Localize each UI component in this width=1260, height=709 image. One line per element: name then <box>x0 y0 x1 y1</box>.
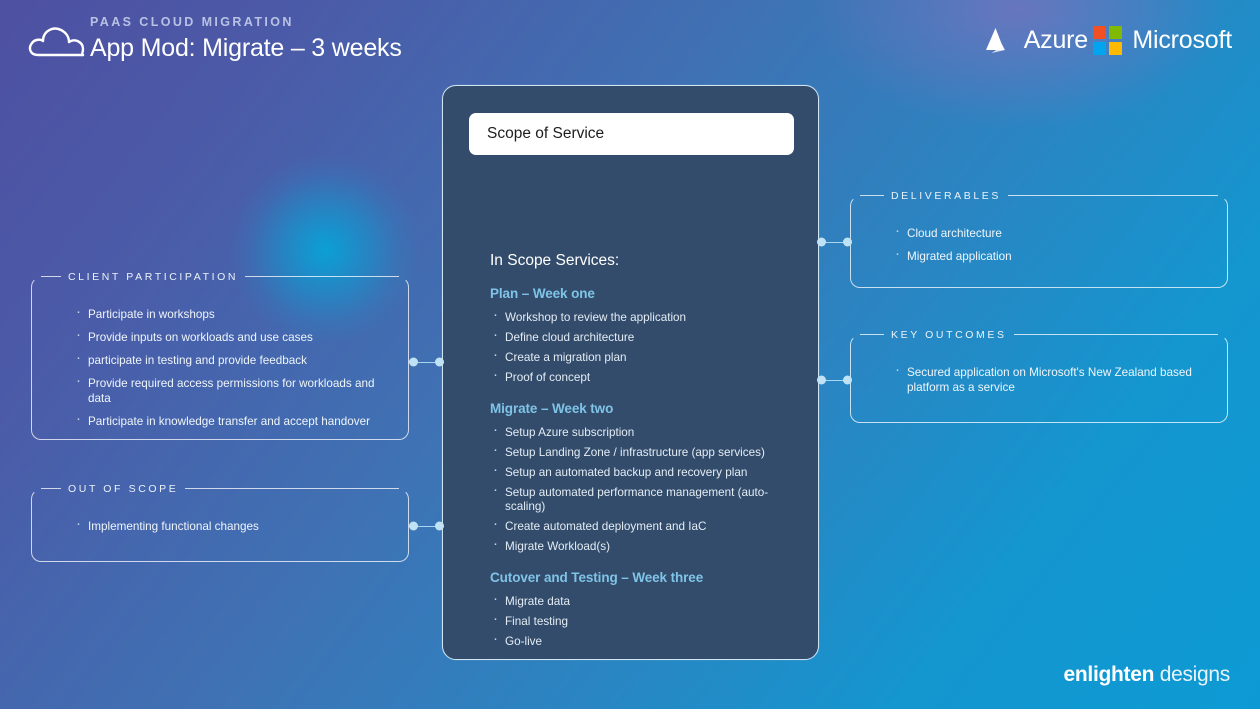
week-block-migrate: Migrate – Week two Setup Azure subscript… <box>490 401 800 554</box>
key-outcomes-panel: KEY OUTCOMES Secured application on Micr… <box>850 335 1228 423</box>
week-title: Cutover and Testing – Week three <box>490 570 800 585</box>
weeks-list: Plan – Week one Workshop to review the a… <box>490 286 800 665</box>
panel-body: Participate in workshops Provide inputs … <box>31 277 409 455</box>
connector-key-outcomes <box>817 375 852 384</box>
list-item: Migrated application <box>892 249 1202 264</box>
scope-chip-label: Scope of Service <box>487 125 604 143</box>
week-title: Migrate – Week two <box>490 401 800 416</box>
list-item: Provide inputs on workloads and use case… <box>73 330 383 345</box>
out-of-scope-panel: OUT OF SCOPE Implementing functional cha… <box>31 489 409 562</box>
page-title: App Mod: Migrate – 3 weeks <box>90 32 402 64</box>
azure-logo-icon <box>983 27 1015 55</box>
page-header: PaaS CLOUD MIGRATION App Mod: Migrate – … <box>0 0 1260 80</box>
list-item: Define cloud architecture <box>490 331 800 345</box>
brand-light: designs <box>1160 663 1230 686</box>
panel-body: Cloud architecture Migrated application <box>850 196 1228 290</box>
scope-of-service-panel: Scope of Service In Scope Services: Plan… <box>442 85 819 660</box>
list-item: participate in testing and provide feedb… <box>73 353 383 368</box>
week-items: Migrate data Final testing Go-live <box>490 595 800 649</box>
connector-dot-right <box>435 357 444 366</box>
week-items: Workshop to review the application Defin… <box>490 311 800 385</box>
panel-body: Implementing functional changes <box>31 489 409 560</box>
connector-out-of-scope <box>409 521 444 530</box>
list-item: Workshop to review the application <box>490 311 800 325</box>
connector-deliverables <box>817 237 852 246</box>
title-block: PaaS CLOUD MIGRATION App Mod: Migrate – … <box>90 14 402 64</box>
list-item: Migrate Workload(s) <box>490 540 800 554</box>
in-scope-services-heading: In Scope Services: <box>490 252 619 270</box>
week-block-cutover: Cutover and Testing – Week three Migrate… <box>490 570 800 649</box>
connector-dot-right <box>435 521 444 530</box>
list-item: Setup Azure subscription <box>490 426 800 440</box>
client-participation-items: Participate in workshops Provide inputs … <box>73 307 383 429</box>
list-item: Create automated deployment and IaC <box>490 520 800 534</box>
list-item: Setup an automated backup and recovery p… <box>490 466 800 480</box>
list-item: Proof of concept <box>490 371 800 385</box>
list-item: Setup automated performance management (… <box>490 486 800 514</box>
key-outcomes-items: Secured application on Microsoft's New Z… <box>892 365 1202 395</box>
header-kicker: PaaS CLOUD MIGRATION <box>90 14 402 30</box>
list-item: Provide required access permissions for … <box>73 376 383 406</box>
connector-dot-left <box>817 237 826 246</box>
connector-dot-left <box>817 375 826 384</box>
week-block-plan: Plan – Week one Workshop to review the a… <box>490 286 800 385</box>
deliverables-items: Cloud architecture Migrated application <box>892 226 1202 264</box>
connector-dot-right <box>843 375 852 384</box>
deliverables-panel: DELIVERABLES Cloud architecture Migrated… <box>850 196 1228 288</box>
connector-dot-right <box>843 237 852 246</box>
week-title: Plan – Week one <box>490 286 800 301</box>
list-item: Implementing functional changes <box>73 519 383 534</box>
client-participation-panel: CLIENT PARTICIPATION Participate in work… <box>31 277 409 440</box>
week-items: Setup Azure subscription Setup Landing Z… <box>490 426 800 554</box>
microsoft-squares-icon <box>1093 26 1122 55</box>
list-item: Go-live <box>490 635 800 649</box>
list-item: Secured application on Microsoft's New Z… <box>892 365 1202 395</box>
azure-logo: Azure <box>983 26 1088 55</box>
connector-client-participation <box>409 357 444 366</box>
list-item: Setup Landing Zone / infrastructure (app… <box>490 446 800 460</box>
list-item: Participate in workshops <box>73 307 383 322</box>
list-item: Create a migration plan <box>490 351 800 365</box>
list-item: Final testing <box>490 615 800 629</box>
out-of-scope-items: Implementing functional changes <box>73 519 383 534</box>
azure-label: Azure <box>1024 26 1088 55</box>
list-item: Cloud architecture <box>892 226 1202 241</box>
list-item: Migrate data <box>490 595 800 609</box>
connector-dot-left <box>409 521 418 530</box>
enlighten-designs-logo: enlighten designs <box>1064 663 1230 687</box>
list-item: Participate in knowledge transfer and ac… <box>73 414 383 429</box>
connector-dot-left <box>409 357 418 366</box>
panel-body: Secured application on Microsoft's New Z… <box>850 335 1228 421</box>
brand-bold: enlighten <box>1064 663 1155 686</box>
scope-of-service-chip[interactable]: Scope of Service <box>469 113 794 155</box>
cloud-outline-icon <box>26 20 88 62</box>
microsoft-label: Microsoft <box>1132 26 1232 55</box>
microsoft-logo: Microsoft <box>1093 26 1232 55</box>
